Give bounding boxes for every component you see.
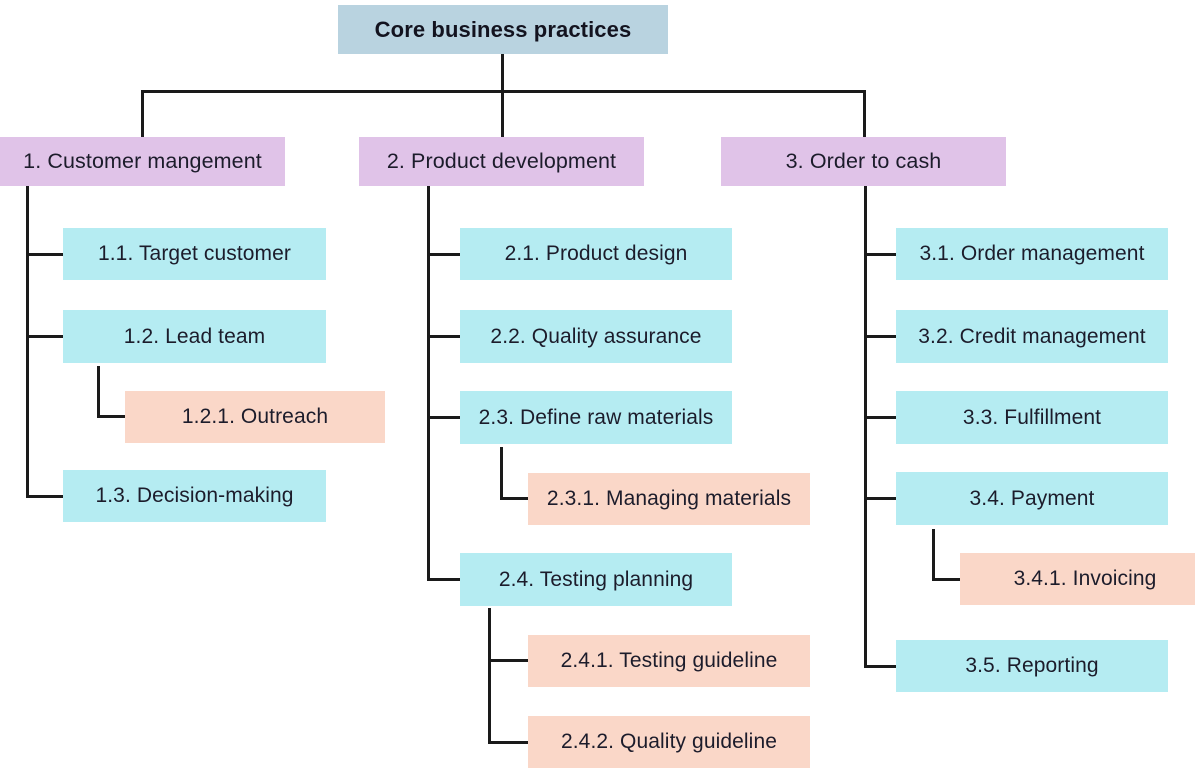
- node-2-4-1[interactable]: 2.4.1. Testing guideline: [528, 635, 810, 687]
- node-3-5[interactable]: 3.5. Reporting: [896, 640, 1168, 692]
- connector-branch-2-spine: [427, 186, 430, 580]
- node-3-3[interactable]: 3.3. Fulfillment: [896, 391, 1168, 444]
- connector-branch-2-to-child-3: [427, 416, 462, 419]
- node-branch-1[interactable]: 1. Customer mangement: [0, 137, 285, 186]
- connector-branch-2-to-child-2: [427, 335, 462, 338]
- node-2-4[interactable]: 2.4. Testing planning: [460, 553, 732, 606]
- connector-branch-3-spine: [864, 186, 867, 668]
- node-2-3-1[interactable]: 2.3.1. Managing materials: [528, 473, 810, 525]
- connector-child-1-2-spine: [97, 366, 100, 418]
- connector-child-2-4-to-sub-2: [488, 741, 530, 744]
- connector-child-3-4-to-sub-1: [932, 578, 962, 581]
- connector-branch-3-to-child-1: [864, 253, 897, 256]
- node-1-2[interactable]: 1.2. Lead team: [63, 310, 326, 363]
- connector-child-2-4-spine: [488, 608, 491, 744]
- node-3-4-1[interactable]: 3.4.1. Invoicing: [960, 553, 1195, 605]
- node-2-1[interactable]: 2.1. Product design: [460, 228, 732, 280]
- org-chart-canvas: Core business practices 1. Customer mang…: [0, 0, 1195, 771]
- node-branch-2[interactable]: 2. Product development: [359, 137, 644, 186]
- connector-root-to-branch-1: [141, 90, 144, 138]
- node-branch-3[interactable]: 3. Order to cash: [721, 137, 1006, 186]
- connector-branch-3-to-child-4: [864, 497, 897, 500]
- node-3-4[interactable]: 3.4. Payment: [896, 472, 1168, 525]
- connector-child-3-4-spine: [932, 529, 935, 581]
- connector-child-2-3-spine: [500, 447, 503, 499]
- connector-child-2-3-to-sub-1: [500, 497, 530, 500]
- node-1-1[interactable]: 1.1. Target customer: [63, 228, 326, 280]
- connector-child-1-2-to-sub-1: [97, 415, 127, 418]
- connector-branch-2-to-child-4: [427, 578, 462, 581]
- node-1-3[interactable]: 1.3. Decision-making: [63, 470, 326, 522]
- node-2-2[interactable]: 2.2. Quality assurance: [460, 310, 732, 363]
- node-2-4-2[interactable]: 2.4.2. Quality guideline: [528, 716, 810, 768]
- connector-root-to-branch-3: [863, 90, 866, 138]
- node-1-2-1[interactable]: 1.2.1. Outreach: [125, 391, 385, 443]
- connector-branch-1-spine: [26, 186, 29, 498]
- connector-branch-1-to-child-3: [26, 495, 65, 498]
- connector-branch-3-to-child-3: [864, 416, 897, 419]
- connector-branch-1-to-child-2: [26, 335, 65, 338]
- node-root[interactable]: Core business practices: [338, 5, 668, 54]
- connector-root-stem: [501, 54, 504, 92]
- connector-branch-1-to-child-1: [26, 253, 65, 256]
- connector-branch-3-to-child-5: [864, 665, 897, 668]
- connector-child-2-4-to-sub-1: [488, 659, 530, 662]
- connector-root-to-branch-2: [501, 90, 504, 138]
- connector-branch-3-to-child-2: [864, 335, 897, 338]
- node-2-3[interactable]: 2.3. Define raw materials: [460, 391, 732, 444]
- node-3-2[interactable]: 3.2. Credit management: [896, 310, 1168, 363]
- connector-branch-2-to-child-1: [427, 253, 462, 256]
- node-3-1[interactable]: 3.1. Order management: [896, 228, 1168, 280]
